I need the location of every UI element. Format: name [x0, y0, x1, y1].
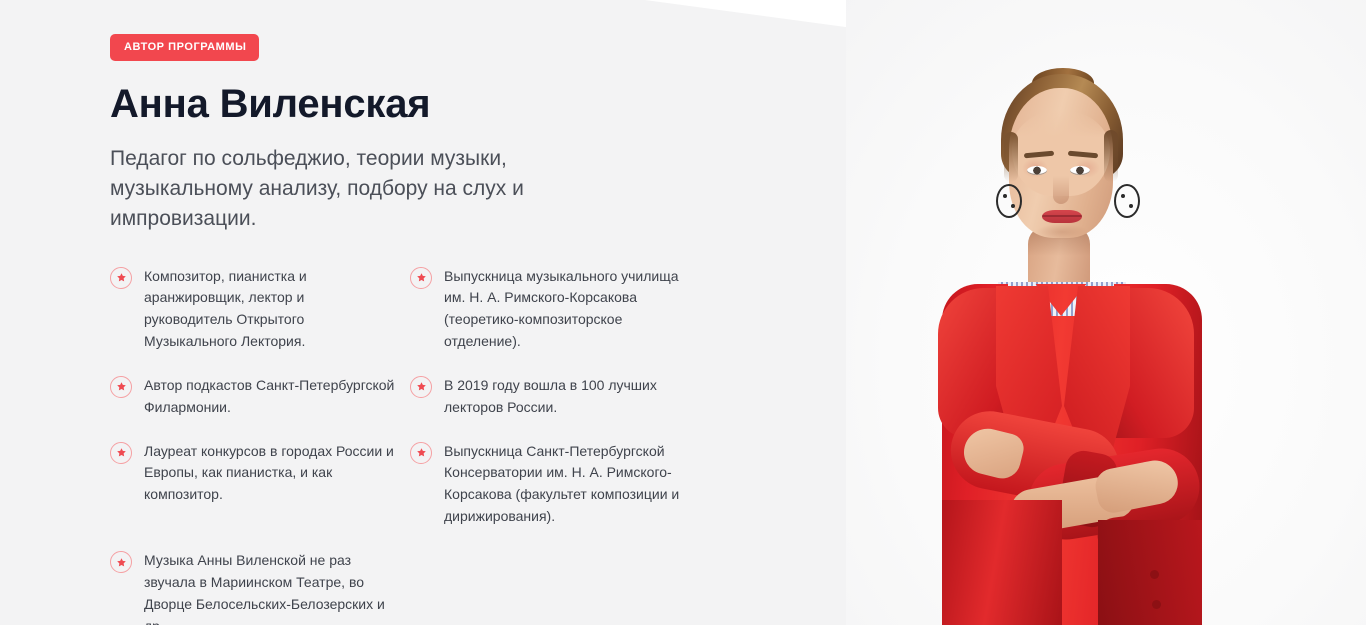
list-item-label: Автор подкастов Санкт-Петербургской Фила… [144, 375, 396, 419]
page-subtitle: Педагог по сольфеджио, теории музыки, му… [110, 144, 615, 233]
nose [1053, 176, 1069, 204]
chin-shadow [1036, 224, 1088, 240]
hair-side-left [1004, 132, 1018, 182]
hero-content: АВТОР ПРОГРАММЫ Анна Виленская Педагог п… [110, 0, 710, 625]
star-in-circle-icon [410, 267, 432, 289]
status-badge: АВТОР ПРОГРАММЫ [110, 34, 259, 61]
lip-line [1042, 215, 1082, 217]
list-item: Автор подкастов Санкт-Петербургской Фила… [110, 375, 410, 419]
star-in-circle-icon [410, 376, 432, 398]
blazer-button [1152, 600, 1161, 609]
star-in-circle-icon [110, 551, 132, 573]
list-item: В 2019 году вошла в 100 лучших лекторов … [410, 375, 710, 419]
earring-detail [1003, 194, 1007, 198]
fact-list: Композитор, пианистка и аранжировщик, ле… [110, 266, 710, 625]
earring-detail [1011, 204, 1015, 208]
blazer-front-left [942, 500, 1062, 625]
eye-right [1070, 166, 1090, 175]
star-in-circle-icon [110, 267, 132, 289]
star-in-circle-icon [110, 376, 132, 398]
star-in-circle-icon [410, 442, 432, 464]
fact-column-left: Композитор, пианистка и аранжировщик, ле… [110, 266, 410, 625]
author-photo [846, 0, 1366, 625]
earring-detail [1129, 204, 1133, 208]
earring-detail [1121, 194, 1125, 198]
list-item: Выпускница Санкт-Петербургской Консерват… [410, 441, 710, 528]
list-item-label: В 2019 году вошла в 100 лучших лекторов … [444, 375, 696, 419]
list-item-label: Музыка Анны Виленской не раз звучала в М… [144, 550, 396, 625]
hero-section: АВТОР ПРОГРАММЫ Анна Виленская Педагог п… [0, 0, 1366, 625]
list-item: Лауреат конкурсов в городах России и Евр… [110, 441, 410, 506]
list-item-label: Выпускница Санкт-Петербургской Консерват… [444, 441, 696, 528]
earring-right [1114, 184, 1140, 218]
list-item-label: Композитор, пианистка и аранжировщик, ле… [144, 266, 396, 353]
list-item-label: Выпускница музыкального училища им. Н. А… [444, 266, 696, 353]
list-item: Музыка Анны Виленской не раз звучала в М… [110, 550, 410, 625]
fact-column-right: Выпускница музыкального училища им. Н. А… [410, 266, 710, 625]
list-item: Выпускница музыкального училища им. Н. А… [410, 266, 710, 353]
list-item-label: Лауреат конкурсов в городах России и Евр… [144, 441, 396, 506]
earring-left [996, 184, 1022, 218]
star-in-circle-icon [110, 442, 132, 464]
list-item: Композитор, пианистка и аранжировщик, ле… [110, 266, 410, 353]
page-title: Анна Виленская [110, 83, 710, 126]
eye-left [1027, 166, 1047, 175]
hair-side-right [1104, 130, 1118, 182]
blazer-button [1150, 570, 1159, 579]
